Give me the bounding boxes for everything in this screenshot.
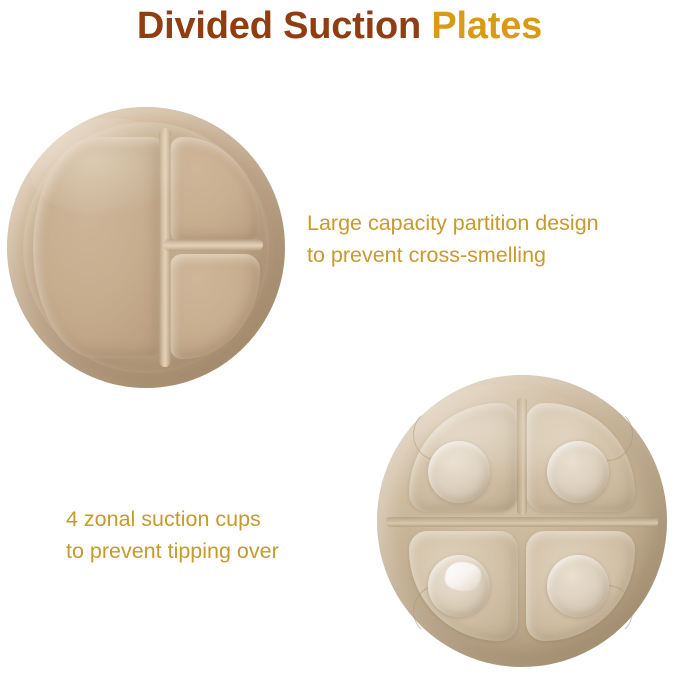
suction-cup-top-right (547, 441, 609, 504)
feature-caption-suction-line-2: to prevent tipping over (66, 535, 279, 567)
compartment-large-left (33, 137, 161, 359)
page-title-part-one: Divided Suction (137, 5, 432, 47)
suction-cup-bottom-right (547, 555, 609, 618)
feature-caption-partition: Large capacity partition design to preve… (307, 207, 599, 271)
feature-caption-suction-line-1: 4 zonal suction cups (66, 503, 279, 535)
underside-channel-vertical (517, 398, 527, 515)
product-infographic: Divided Suction Plates Large capacity pa… (0, 0, 679, 681)
suction-cup-highlight (445, 562, 481, 591)
feature-caption-partition-line-2: to prevent cross-smelling (307, 239, 599, 271)
divider-horizontal (163, 239, 263, 251)
feature-caption-partition-line-1: Large capacity partition design (307, 207, 599, 239)
feature-caption-suction: 4 zonal suction cups to prevent tipping … (66, 503, 279, 567)
page-title: Divided Suction Plates (0, 4, 679, 48)
product-image-bottom-plate (377, 375, 667, 667)
page-title-part-two: Plates (431, 5, 542, 47)
underside-channel-horizontal (386, 517, 659, 527)
suction-cup-bottom-left (428, 555, 490, 618)
suction-cup-top-left (428, 441, 490, 504)
product-image-top-plate (7, 107, 285, 388)
